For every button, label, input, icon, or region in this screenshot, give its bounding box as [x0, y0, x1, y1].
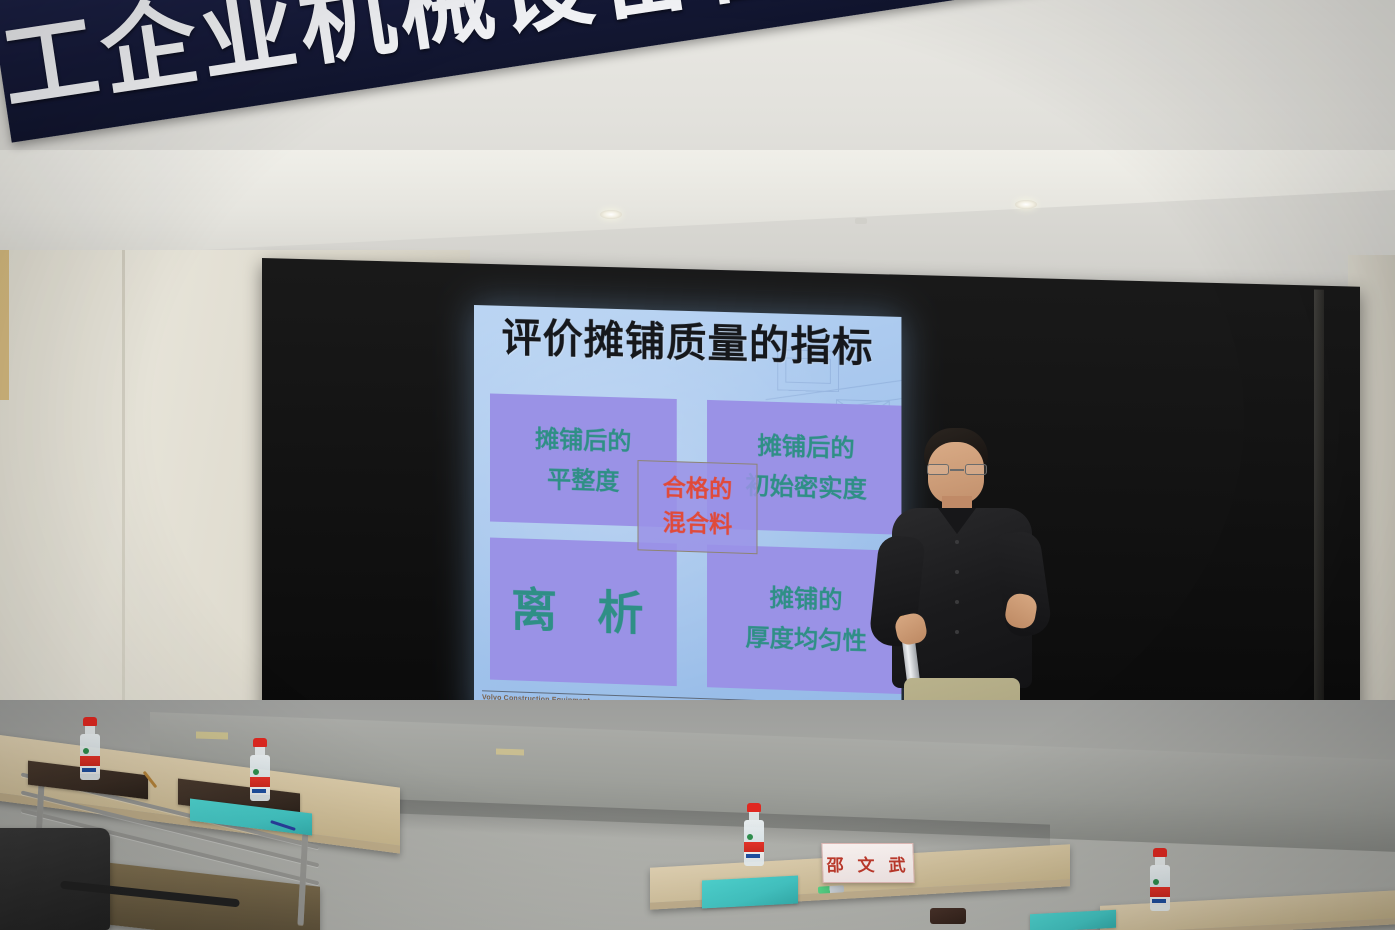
- presenter-buttons: [955, 540, 959, 680]
- downlight-icon: [600, 210, 622, 219]
- quadrant-line: 平整度: [547, 467, 619, 493]
- glasses-icon: [926, 464, 988, 475]
- name-placard-text: 邵 文 武: [826, 851, 910, 876]
- quadrant-line: 摊铺后的: [758, 434, 855, 461]
- desk-wallet: [930, 908, 966, 924]
- quadrant-line: 摊铺后的: [535, 427, 631, 454]
- quadrant-line: 离 析: [511, 586, 656, 637]
- slide-center-box: 合格的 混合料: [637, 460, 757, 554]
- water-bottle: [250, 738, 270, 801]
- quadrant-line: 初始密实度: [745, 473, 867, 501]
- downlight-icon: [1015, 200, 1037, 209]
- chair: [0, 828, 110, 930]
- ceiling-vent-icon: [855, 218, 867, 224]
- desk-marker: [818, 885, 844, 893]
- center-box-line: 混合料: [663, 512, 733, 537]
- floor-tape-mark: [196, 731, 228, 739]
- desk-folder: [1030, 910, 1116, 930]
- water-bottle: [1150, 848, 1170, 911]
- water-bottle: [80, 717, 100, 780]
- quadrant-line: 摊铺的: [770, 586, 843, 613]
- floor-tape-mark: [496, 749, 524, 756]
- slide-title: 评价摊铺质量的指标: [474, 317, 901, 369]
- desk-folder: [702, 875, 798, 908]
- projected-slide: 评价摊铺质量的指标 摊铺后的 平整度 摊铺后的 初始密实度 离 析 摊铺的 厚度…: [474, 305, 901, 740]
- name-placard: 邵 文 武: [821, 843, 914, 883]
- water-bottle: [744, 803, 764, 866]
- quadrant-line: 厚度均匀性: [745, 625, 867, 653]
- slide-quadrant-bottom-left: 离 析: [490, 538, 677, 687]
- center-box-line: 合格的: [663, 477, 733, 502]
- photo-scene: 山东省施工企业机械设备管理人员培训班: [0, 0, 1395, 930]
